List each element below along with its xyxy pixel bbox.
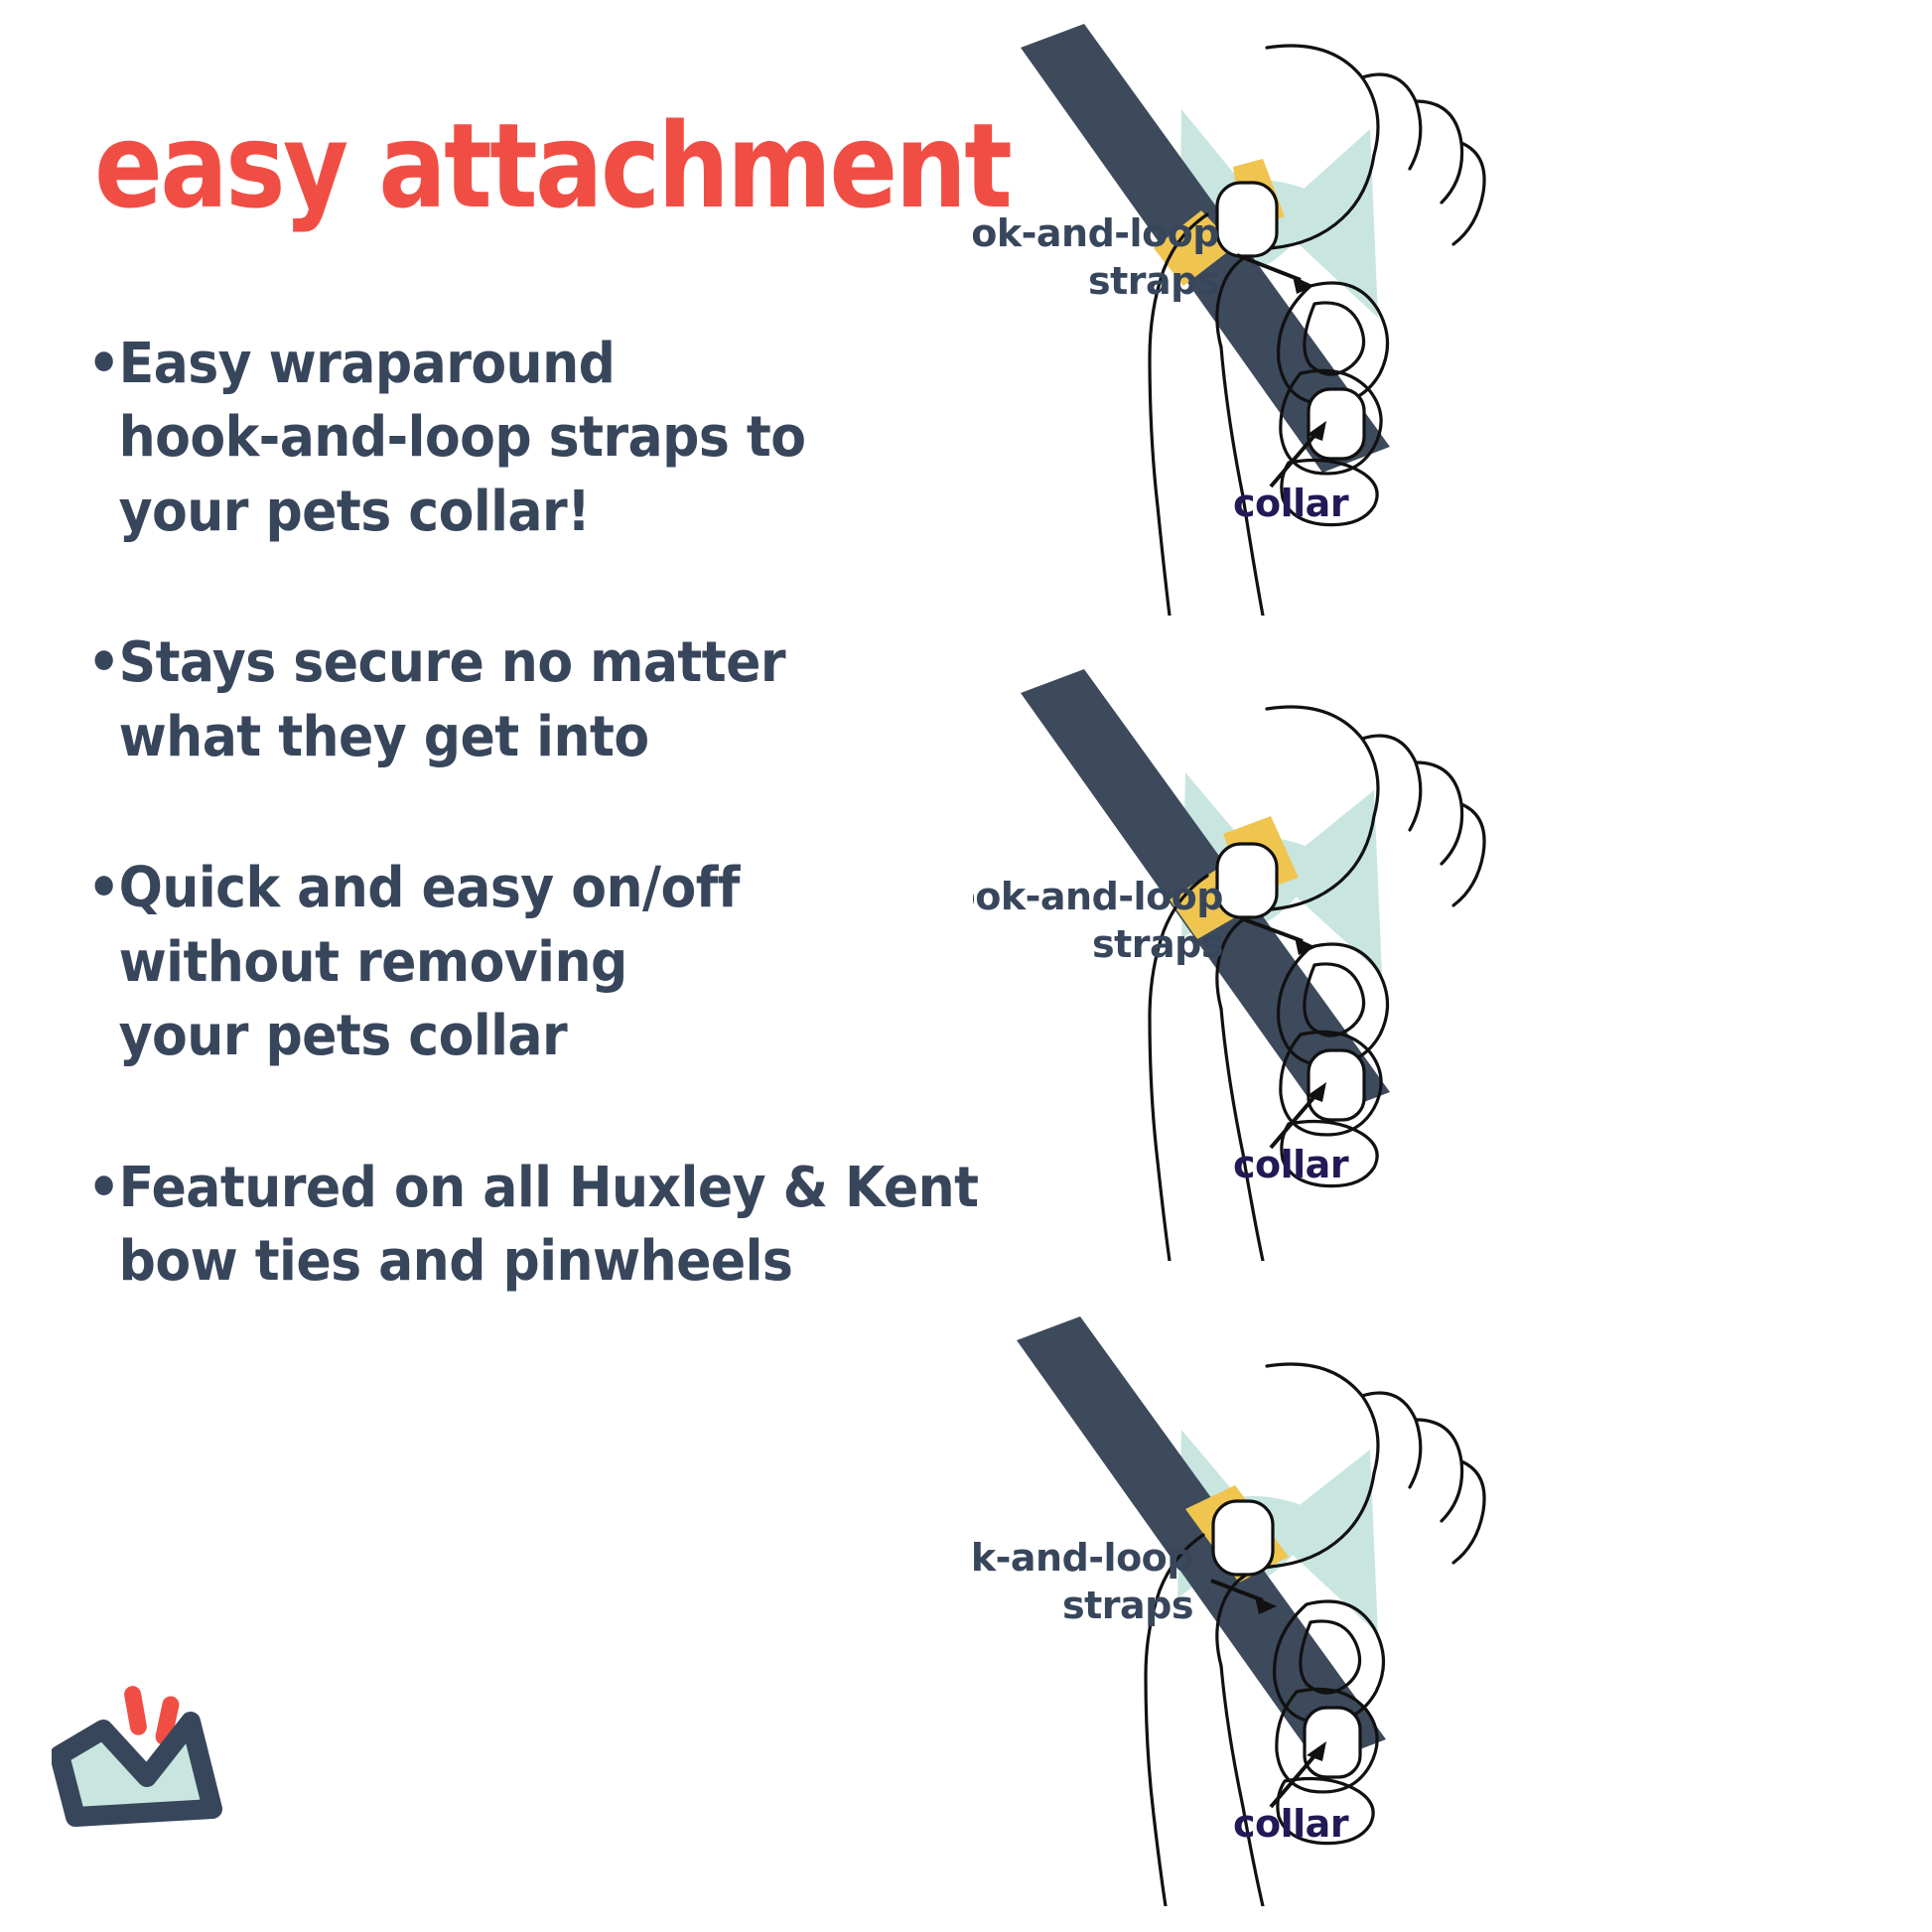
crown-icon — [60, 1722, 212, 1817]
collar-label: collar — [1233, 1143, 1349, 1186]
collar-label: collar — [1233, 1802, 1349, 1846]
bullet-marker-icon: • — [87, 852, 119, 925]
strap-label-line-2: straps — [1088, 259, 1219, 303]
illustration-step-3: hook-and-loop straps collar — [973, 1311, 1727, 1906]
list-item: • Easy wraparound hook-and-loop straps t… — [87, 328, 899, 549]
bullet-marker-icon: • — [87, 1152, 119, 1225]
list-item-text: Quick and easy on/off without removing y… — [119, 852, 900, 1073]
list-item-line: without removing — [119, 926, 900, 1000]
brand-logo — [52, 1678, 240, 1876]
list-item-line: your pets collar — [119, 1000, 900, 1073]
bullet-marker-icon: • — [87, 328, 119, 401]
list-item: • Featured on all Huxley & Kent bow ties… — [87, 1152, 899, 1300]
strap-label-line-1: hook-and-loop — [973, 1536, 1193, 1580]
illustration-step-1: hook-and-loop straps collar — [973, 20, 1727, 616]
list-item-line: Stays secure no matter — [119, 626, 900, 700]
list-item-line: what they get into — [119, 701, 900, 774]
list-item: • Quick and easy on/off without removing… — [87, 852, 899, 1073]
strap-label-line-2: straps — [1062, 1584, 1193, 1627]
bullet-marker-icon: • — [87, 626, 119, 700]
strap-label-line-2: straps — [1092, 922, 1223, 966]
list-item-text: Easy wraparound hook-and-loop straps to … — [119, 328, 900, 549]
list-item-line: Featured on all Huxley & Kent — [119, 1152, 979, 1225]
list-item-line: Easy wraparound — [119, 328, 900, 401]
collar-label: collar — [1233, 482, 1349, 525]
list-item: • Stays secure no matter what they get i… — [87, 626, 899, 774]
list-item-text: Featured on all Huxley & Kent bow ties a… — [119, 1152, 979, 1300]
hand-illustration — [1150, 46, 1484, 616]
list-item-line: bow ties and pinwheels — [119, 1225, 979, 1299]
feature-list: • Easy wraparound hook-and-loop straps t… — [87, 328, 961, 1377]
strap-label-line-1: hook-and-loop — [973, 211, 1219, 255]
illustration-step-2: hook-and-loop straps collar — [973, 665, 1727, 1261]
list-item-line: Quick and easy on/off — [119, 852, 900, 925]
strap-label-line-1: hook-and-loop — [973, 875, 1223, 918]
left-content-column: easy attachment • Easy wraparound hook-a… — [0, 0, 993, 1932]
list-item-text: Stays secure no matter what they get int… — [119, 626, 900, 774]
page-title: easy attachment — [94, 107, 1010, 224]
list-item-line: hook-and-loop straps to — [119, 401, 900, 475]
list-item-line: your pets collar! — [119, 476, 900, 549]
infographic-page: easy attachment • Easy wraparound hook-a… — [0, 0, 1932, 1932]
